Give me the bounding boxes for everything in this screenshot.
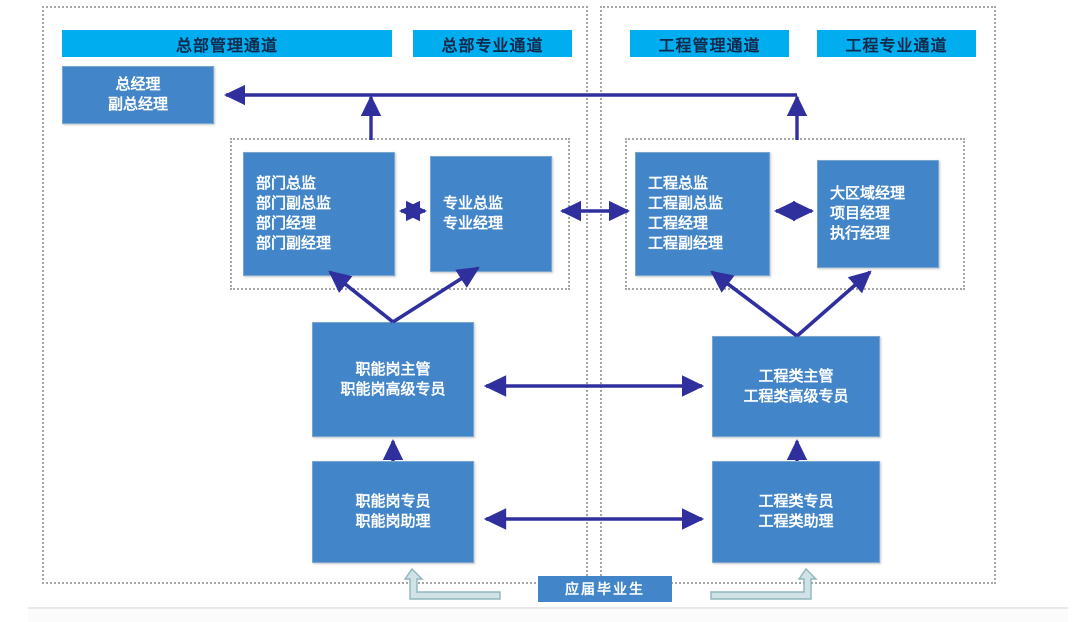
role-line: 部门总监 <box>256 174 316 194</box>
role-line: 工程类专员 <box>758 492 833 512</box>
role-line: 工程副经理 <box>648 234 723 254</box>
role-box-engineering-specialists: 工程类专员 工程类助理 <box>712 461 880 563</box>
role-line: 专业经理 <box>443 214 503 234</box>
role-box-general-manager: 总经理 副总经理 <box>62 66 214 124</box>
role-line: 工程类助理 <box>758 512 833 532</box>
role-box-regional-managers: 大区域经理 项目经理 执行经理 <box>817 160 939 268</box>
channel-header-hq-management: 总部管理通道 <box>62 30 392 57</box>
role-line: 部门副经理 <box>256 234 331 254</box>
role-line: 部门副总监 <box>256 194 331 214</box>
role-box-engineering-supervisors: 工程类主管 工程类高级专员 <box>712 336 880 437</box>
role-box-functional-supervisors: 职能岗主管 职能岗高级专员 <box>312 322 474 437</box>
role-line: 副总经理 <box>108 95 168 115</box>
role-box-engineering-directors: 工程总监 工程副总监 工程经理 工程副经理 <box>635 152 770 276</box>
channel-header-eng-management: 工程管理通道 <box>630 30 789 57</box>
role-line: 职能岗助理 <box>355 512 430 532</box>
role-line: 工程副总监 <box>648 194 723 214</box>
role-line: 专业总监 <box>443 194 503 214</box>
channel-header-hq-professional: 总部专业通道 <box>413 30 572 57</box>
role-line: 工程总监 <box>648 174 708 194</box>
role-box-professional-directors: 专业总监 专业经理 <box>430 156 552 272</box>
role-line: 工程经理 <box>648 214 708 234</box>
role-line: 大区域经理 <box>830 184 905 204</box>
role-box-department-directors: 部门总监 部门副总监 部门经理 部门副经理 <box>243 152 395 276</box>
role-line: 执行经理 <box>830 224 890 244</box>
role-line: 职能岗专员 <box>355 492 430 512</box>
role-line: 工程类主管 <box>758 367 833 387</box>
footer-area <box>28 609 1068 622</box>
org-chart-canvas: 总部管理通道 总部专业通道 工程管理通道 工程专业通道 总经理 副总经理 部门总… <box>0 0 1090 622</box>
channel-header-eng-professional: 工程专业通道 <box>817 30 976 57</box>
role-box-functional-specialists: 职能岗专员 职能岗助理 <box>312 461 474 563</box>
role-line: 总经理 <box>115 75 160 95</box>
role-line: 项目经理 <box>830 204 890 224</box>
role-box-fresh-graduates: 应届毕业生 <box>538 576 672 602</box>
role-line: 职能岗主管 <box>355 360 430 380</box>
role-line: 部门经理 <box>256 214 316 234</box>
role-line: 工程类高级专员 <box>743 387 848 407</box>
role-line: 职能岗高级专员 <box>340 380 445 400</box>
